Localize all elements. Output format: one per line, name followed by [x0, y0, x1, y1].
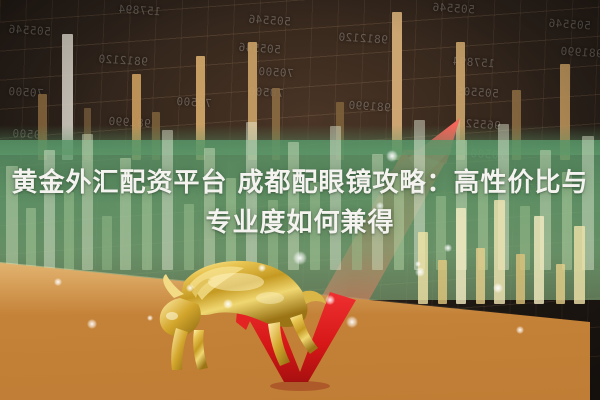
banner-image: 1578945055465055469812120981212050554670…	[0, 0, 600, 400]
bokeh-dot	[147, 315, 153, 321]
bokeh-dot	[87, 319, 97, 329]
bokeh-dot	[186, 284, 194, 292]
bokeh-dot	[346, 316, 358, 328]
bokeh-dot	[325, 295, 335, 305]
bokeh-dot	[444, 244, 452, 252]
bokeh-dot	[386, 150, 398, 162]
bokeh-dot	[54, 278, 62, 286]
bokeh-dot	[293, 251, 307, 265]
bokeh-dot	[415, 261, 421, 267]
headline-line-2: 专业度如何兼得	[0, 203, 600, 243]
bokeh-dot	[258, 264, 266, 272]
page-title: 黄金外汇配资平台 成都配眼镜攻略：高性价比与 专业度如何兼得	[0, 163, 600, 243]
headline-line-1: 黄金外汇配资平台 成都配眼镜攻略：高性价比与	[0, 163, 600, 203]
bokeh-dot	[493, 283, 503, 293]
bokeh-dot	[415, 267, 425, 277]
bokeh-dot	[223, 299, 233, 309]
bokeh-dot	[516, 326, 524, 334]
